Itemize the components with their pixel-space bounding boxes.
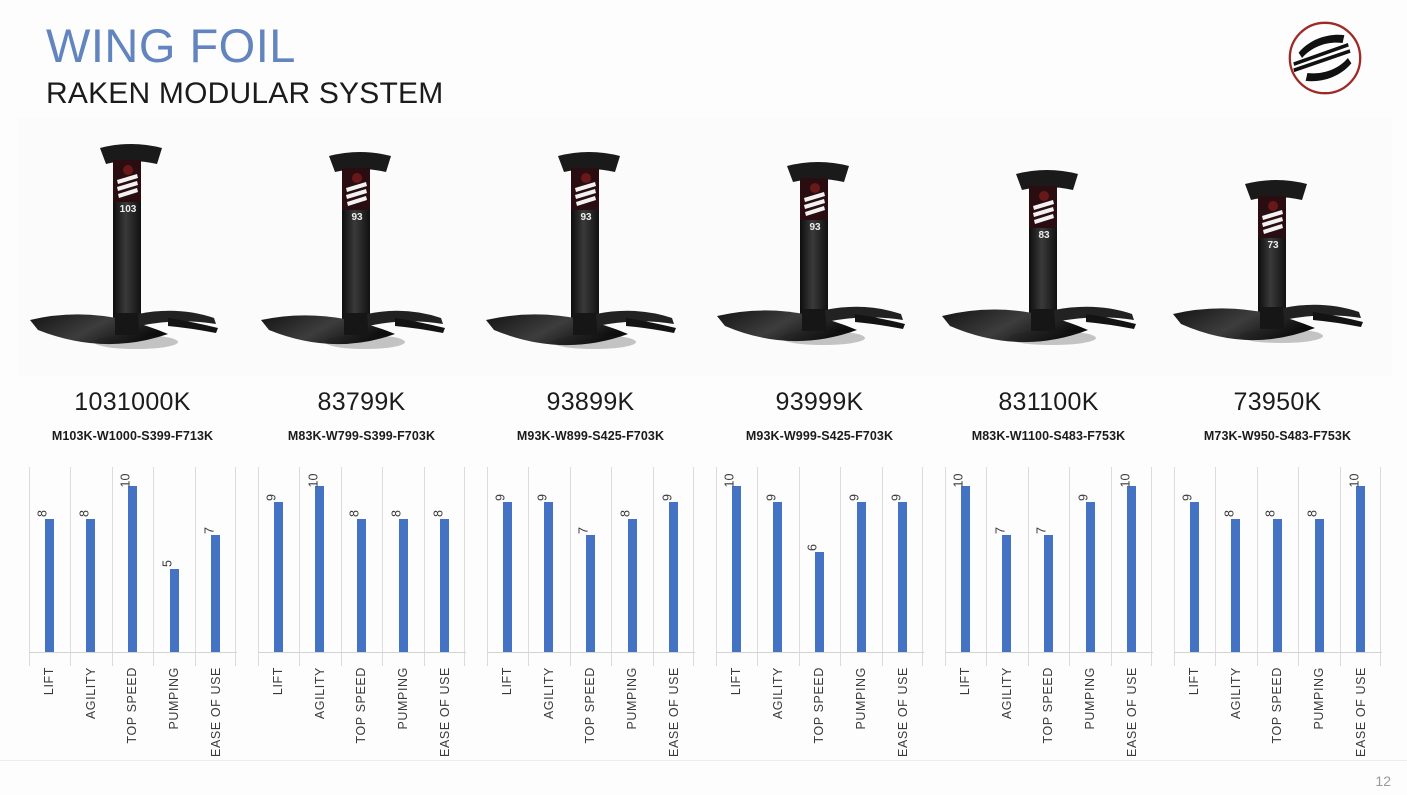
mast-label: 83 — [1038, 230, 1050, 241]
axis-label: PUMPING — [397, 667, 410, 730]
chart-category: 9 — [528, 467, 570, 652]
chart-bar: 9 — [1190, 502, 1199, 652]
product-chart: 10 9 6 9 — [716, 467, 924, 762]
axis-label: EASE OF USE — [1354, 667, 1367, 757]
chart-bar: 10 — [128, 486, 137, 653]
product-photo: 73 — [1163, 118, 1392, 376]
bar-value: 8 — [1307, 510, 1320, 517]
bar-value: 7 — [1036, 527, 1049, 534]
chart-axis-labels: LIFT AGILITY TOP SPEED PUMPING EASE OF U… — [716, 653, 924, 761]
product-photo: 93 — [705, 118, 934, 376]
product-name: 93999K — [705, 388, 934, 417]
axis-label: EASE OF USE — [209, 667, 222, 757]
axis-label: PUMPING — [1313, 667, 1326, 730]
chart-axis-labels: LIFT AGILITY TOP SPEED PUMPING EASE OF U… — [1174, 653, 1382, 761]
axis-tick: TOP SPEED — [1257, 653, 1299, 761]
bar-value: 8 — [349, 510, 362, 517]
chart-axis-labels: LIFT AGILITY TOP SPEED PUMPING EASE OF U… — [258, 653, 466, 761]
slide-header: WING FOIL RAKEN MODULAR SYSTEM — [46, 22, 946, 109]
product-column: 73 73950K M73K-W950-S483-F753K 9 — [1163, 118, 1392, 758]
page-subtitle: RAKEN MODULAR SYSTEM — [46, 79, 946, 109]
chart-bar: 9 — [857, 502, 866, 652]
chart-bar: 8 — [1315, 519, 1324, 652]
axis-label: LIFT — [959, 667, 972, 695]
product-column: 93 83799K M83K-W799-S399-F703K 9 — [247, 118, 476, 758]
chart-category: 7 — [570, 467, 612, 652]
axis-tick: TOP SPEED — [570, 653, 612, 761]
chart-category: 9 — [840, 467, 882, 652]
axis-tick: PUMPING — [611, 653, 653, 761]
chart-category: 7 — [986, 467, 1028, 652]
axis-tick: LIFT — [716, 653, 758, 761]
axis-tick: LIFT — [1174, 653, 1216, 761]
product-photo: 93 — [247, 118, 476, 376]
bar-value: 7 — [994, 527, 1007, 534]
footer-divider — [0, 760, 1407, 761]
chart-category: 9 — [1174, 467, 1216, 652]
bar-value: 9 — [536, 494, 549, 501]
product-photo: 83 — [934, 118, 1163, 376]
product-chart: 8 8 10 5 — [29, 467, 237, 762]
axis-tick: AGILITY — [757, 653, 799, 761]
bar-value: 10 — [953, 474, 966, 488]
axis-label: TOP SPEED — [355, 667, 368, 744]
chart-bar: 10 — [315, 486, 324, 653]
axis-tick: EASE OF USE — [195, 653, 237, 761]
chart-bar: 9 — [1086, 502, 1095, 652]
axis-label: AGILITY — [85, 667, 98, 719]
axis-tick: TOP SPEED — [799, 653, 841, 761]
chart-bar: 8 — [86, 519, 95, 652]
chart-bar: 8 — [628, 519, 637, 652]
axis-label: LIFT — [1188, 667, 1201, 695]
product-name: 73950K — [1163, 388, 1392, 417]
product-code: M93K-W899-S425-F703K — [476, 429, 705, 443]
chart-category: 10 — [299, 467, 341, 652]
chart-axis-labels: LIFT AGILITY TOP SPEED PUMPING EASE OF U… — [945, 653, 1153, 761]
chart-bar: 7 — [1002, 535, 1011, 652]
axis-tick: PUMPING — [382, 653, 424, 761]
chart-category: 8 — [341, 467, 383, 652]
bar-value: 8 — [78, 510, 91, 517]
axis-tick: AGILITY — [1215, 653, 1257, 761]
mast-label: 93 — [809, 222, 821, 233]
bar-value: 9 — [765, 494, 778, 501]
slide-root: WING FOIL RAKEN MODULAR SYSTEM — [0, 0, 1407, 795]
axis-tick: AGILITY — [299, 653, 341, 761]
product-code: M83K-W1100-S483-F753K — [934, 429, 1163, 443]
chart-category: 10 — [945, 467, 987, 652]
chart-bar: 9 — [898, 502, 907, 652]
chart-bar: 9 — [669, 502, 678, 652]
chart-bar: 6 — [815, 552, 824, 652]
chart-bar: 8 — [1273, 519, 1282, 652]
chart-category: 8 — [1298, 467, 1340, 652]
chart-bar: 7 — [1044, 535, 1053, 652]
chart-bar: 9 — [544, 502, 553, 652]
chart-bar: 8 — [45, 519, 54, 652]
mast-label: 103 — [120, 204, 137, 215]
bar-value: 10 — [120, 474, 133, 488]
chart-plot: 10 9 6 9 — [716, 467, 924, 652]
axis-tick: AGILITY — [528, 653, 570, 761]
product-column: 93 93999K M93K-W999-S425-F703K 10 — [705, 118, 934, 758]
axis-tick: AGILITY — [70, 653, 112, 761]
chart-category: 9 — [882, 467, 924, 652]
bar-value: 8 — [391, 510, 404, 517]
axis-label: AGILITY — [543, 667, 556, 719]
chart-category: 9 — [487, 467, 529, 652]
axis-label: TOP SPEED — [584, 667, 597, 744]
bar-value: 7 — [203, 527, 216, 534]
product-code: M83K-W799-S399-F703K — [247, 429, 476, 443]
axis-tick: LIFT — [945, 653, 987, 761]
axis-label: LIFT — [501, 667, 514, 695]
chart-category: 8 — [611, 467, 653, 652]
axis-tick: TOP SPEED — [341, 653, 383, 761]
axis-tick: EASE OF USE — [1340, 653, 1382, 761]
chart-bar: 9 — [773, 502, 782, 652]
chart-category: 7 — [195, 467, 237, 652]
bar-value: 10 — [1348, 474, 1361, 488]
axis-label: EASE OF USE — [438, 667, 451, 757]
page-number: 12 — [1375, 773, 1391, 789]
axis-label: TOP SPEED — [1271, 667, 1284, 744]
chart-category: 10 — [112, 467, 154, 652]
product-code: M73K-W950-S483-F753K — [1163, 429, 1392, 443]
bar-value: 9 — [266, 494, 279, 501]
axis-label: AGILITY — [1230, 667, 1243, 719]
axis-tick: EASE OF USE — [424, 653, 466, 761]
axis-tick: TOP SPEED — [1028, 653, 1070, 761]
chart-axis-labels: LIFT AGILITY TOP SPEED PUMPING EASE OF U… — [29, 653, 237, 761]
product-code: M103K-W1000-S399-F713K — [18, 429, 247, 443]
chart-plot: 9 9 7 8 — [487, 467, 695, 652]
axis-label: TOP SPEED — [126, 667, 139, 744]
axis-label: PUMPING — [168, 667, 181, 730]
chart-category: 9 — [653, 467, 695, 652]
bar-value: 9 — [1078, 494, 1091, 501]
axis-tick: EASE OF USE — [882, 653, 924, 761]
axis-label: AGILITY — [314, 667, 327, 719]
chart-bar: 10 — [961, 486, 970, 653]
product-column: 83 831100K M83K-W1100-S483-F753K 10 — [934, 118, 1163, 758]
axis-tick: EASE OF USE — [1111, 653, 1153, 761]
chart-bar: 8 — [1231, 519, 1240, 652]
axis-label: LIFT — [43, 667, 56, 695]
product-grid: 103 1031000K M103K-W1000-S399-F713K 8 — [18, 118, 1392, 758]
chart-category: 9 — [757, 467, 799, 652]
axis-tick: PUMPING — [840, 653, 882, 761]
bar-value: 8 — [620, 510, 633, 517]
product-chart: 10 7 7 9 — [945, 467, 1153, 762]
chart-bar: 9 — [274, 502, 283, 652]
chart-category: 8 — [1257, 467, 1299, 652]
page-title: WING FOIL — [46, 22, 946, 69]
chart-category: 8 — [1215, 467, 1257, 652]
product-photo: 103 — [18, 118, 247, 376]
axis-label: TOP SPEED — [813, 667, 826, 744]
chart-plot: 9 10 8 8 — [258, 467, 466, 652]
chart-bar: 10 — [1127, 486, 1136, 653]
chart-plot: 10 7 7 9 — [945, 467, 1153, 652]
axis-label: PUMPING — [626, 667, 639, 730]
product-photo: 93 — [476, 118, 705, 376]
bar-value: 5 — [162, 560, 175, 567]
bar-value: 9 — [1182, 494, 1195, 501]
chart-bar: 8 — [440, 519, 449, 652]
chart-category: 8 — [424, 467, 466, 652]
axis-label: LIFT — [272, 667, 285, 695]
bar-value: 8 — [1265, 510, 1278, 517]
axis-label: TOP SPEED — [1042, 667, 1055, 744]
bar-value: 9 — [661, 494, 674, 501]
axis-label: EASE OF USE — [667, 667, 680, 757]
bar-value: 9 — [849, 494, 862, 501]
product-column: 103 1031000K M103K-W1000-S399-F713K 8 — [18, 118, 247, 758]
axis-tick: AGILITY — [986, 653, 1028, 761]
product-chart: 9 10 8 8 — [258, 467, 466, 762]
brand-logo-icon — [1281, 14, 1369, 102]
bar-value: 8 — [432, 510, 445, 517]
chart-category: 8 — [382, 467, 424, 652]
axis-label: PUMPING — [1084, 667, 1097, 730]
bar-value: 9 — [890, 494, 903, 501]
bar-value: 10 — [1119, 474, 1132, 488]
chart-bar: 8 — [357, 519, 366, 652]
axis-tick: LIFT — [487, 653, 529, 761]
axis-tick: PUMPING — [153, 653, 195, 761]
mast-label: 93 — [580, 212, 592, 223]
chart-category: 8 — [70, 467, 112, 652]
product-name: 83799K — [247, 388, 476, 417]
product-name: 93899K — [476, 388, 705, 417]
bar-value: 9 — [495, 494, 508, 501]
axis-label: EASE OF USE — [1125, 667, 1138, 757]
chart-axis-labels: LIFT AGILITY TOP SPEED PUMPING EASE OF U… — [487, 653, 695, 761]
axis-label: EASE OF USE — [896, 667, 909, 757]
chart-category: 10 — [716, 467, 758, 652]
axis-label: AGILITY — [772, 667, 785, 719]
axis-tick: LIFT — [258, 653, 300, 761]
axis-label: AGILITY — [1001, 667, 1014, 719]
product-column: 93 93899K M93K-W899-S425-F703K 9 — [476, 118, 705, 758]
product-name: 831100K — [934, 388, 1163, 417]
bar-value: 8 — [37, 510, 50, 517]
bar-value: 10 — [307, 474, 320, 488]
chart-bar: 10 — [732, 486, 741, 653]
axis-label: PUMPING — [855, 667, 868, 730]
axis-tick: PUMPING — [1298, 653, 1340, 761]
chart-plot: 9 8 8 8 — [1174, 467, 1382, 652]
chart-category: 6 — [799, 467, 841, 652]
bar-value: 8 — [1223, 510, 1236, 517]
chart-category: 9 — [258, 467, 300, 652]
axis-label: LIFT — [730, 667, 743, 695]
product-code: M93K-W999-S425-F703K — [705, 429, 934, 443]
axis-tick: TOP SPEED — [112, 653, 154, 761]
chart-bar: 7 — [211, 535, 220, 652]
product-name: 1031000K — [18, 388, 247, 417]
axis-tick: LIFT — [29, 653, 71, 761]
chart-bar: 7 — [586, 535, 595, 652]
chart-category: 10 — [1340, 467, 1382, 652]
chart-bar: 5 — [170, 569, 179, 652]
product-chart: 9 8 8 8 — [1174, 467, 1382, 762]
axis-tick: PUMPING — [1069, 653, 1111, 761]
axis-tick: EASE OF USE — [653, 653, 695, 761]
chart-bar: 10 — [1356, 486, 1365, 653]
chart-plot: 8 8 10 5 — [29, 467, 237, 652]
chart-category: 7 — [1028, 467, 1070, 652]
bar-value: 6 — [807, 544, 820, 551]
chart-category: 10 — [1111, 467, 1153, 652]
product-chart: 9 9 7 8 — [487, 467, 695, 762]
mast-label: 73 — [1267, 240, 1279, 251]
mast-label: 93 — [351, 212, 363, 223]
chart-category: 9 — [1069, 467, 1111, 652]
bar-value: 7 — [578, 527, 591, 534]
chart-category: 8 — [29, 467, 71, 652]
bar-value: 10 — [724, 474, 737, 488]
chart-bar: 8 — [399, 519, 408, 652]
chart-category: 5 — [153, 467, 195, 652]
chart-bar: 9 — [503, 502, 512, 652]
